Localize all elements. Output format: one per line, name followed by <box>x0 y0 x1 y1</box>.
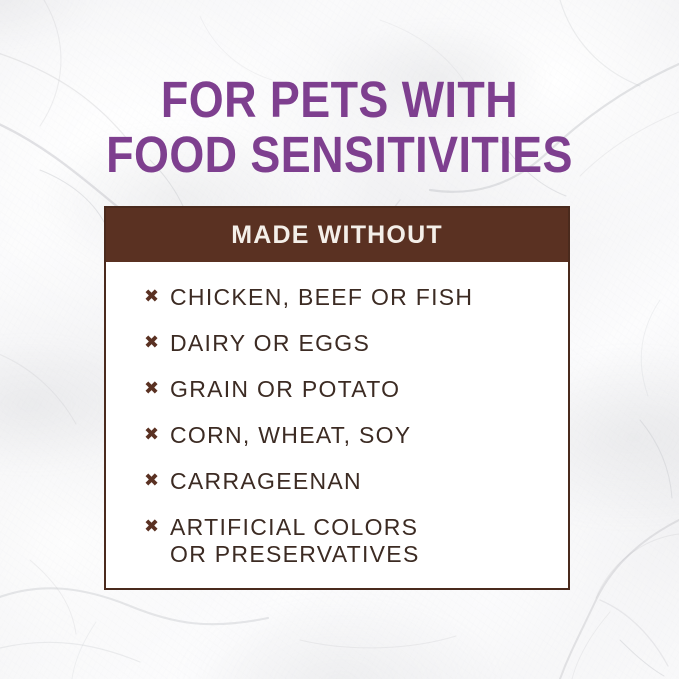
made-without-card: MADE WITHOUT ✖ CHICKEN, BEEF OR FISH ✖ D… <box>104 206 570 590</box>
list-item: ✖ CHICKEN, BEEF OR FISH <box>144 284 568 311</box>
product-feature-poster: FOR PETS WITH FOOD SENSITIVITIES MADE WI… <box>0 0 679 679</box>
list-item-label: DAIRY OR EGGS <box>170 330 370 357</box>
card-body: ✖ CHICKEN, BEEF OR FISH ✖ DAIRY OR EGGS … <box>106 262 568 588</box>
cross-icon: ✖ <box>144 422 170 447</box>
list-item-label: CHICKEN, BEEF OR FISH <box>170 284 473 311</box>
exclusion-list: ✖ CHICKEN, BEEF OR FISH ✖ DAIRY OR EGGS … <box>106 284 568 568</box>
page-title: FOR PETS WITH FOOD SENSITIVITIES <box>0 72 679 182</box>
list-item-label: ARTIFICIAL COLORS OR PRESERVATIVES <box>170 514 420 568</box>
headline-line-2: FOOD SENSITIVITIES <box>41 127 639 182</box>
cross-icon: ✖ <box>144 330 170 355</box>
cross-icon: ✖ <box>144 468 170 493</box>
list-item: ✖ GRAIN OR POTATO <box>144 376 568 403</box>
list-item: ✖ CORN, WHEAT, SOY <box>144 422 568 449</box>
cross-icon: ✖ <box>144 376 170 401</box>
list-item: ✖ DAIRY OR EGGS <box>144 330 568 357</box>
list-item: ✖ ARTIFICIAL COLORS OR PRESERVATIVES <box>144 514 568 568</box>
card-header-bar: MADE WITHOUT <box>106 208 568 262</box>
headline-line-1: FOR PETS WITH <box>41 72 639 127</box>
card-header-title: MADE WITHOUT <box>231 221 443 250</box>
list-item-label: GRAIN OR POTATO <box>170 376 400 403</box>
list-item-label: CORN, WHEAT, SOY <box>170 422 411 449</box>
cross-icon: ✖ <box>144 514 170 539</box>
cross-icon: ✖ <box>144 284 170 309</box>
list-item-label: CARRAGEENAN <box>170 468 362 495</box>
list-item: ✖ CARRAGEENAN <box>144 468 568 495</box>
